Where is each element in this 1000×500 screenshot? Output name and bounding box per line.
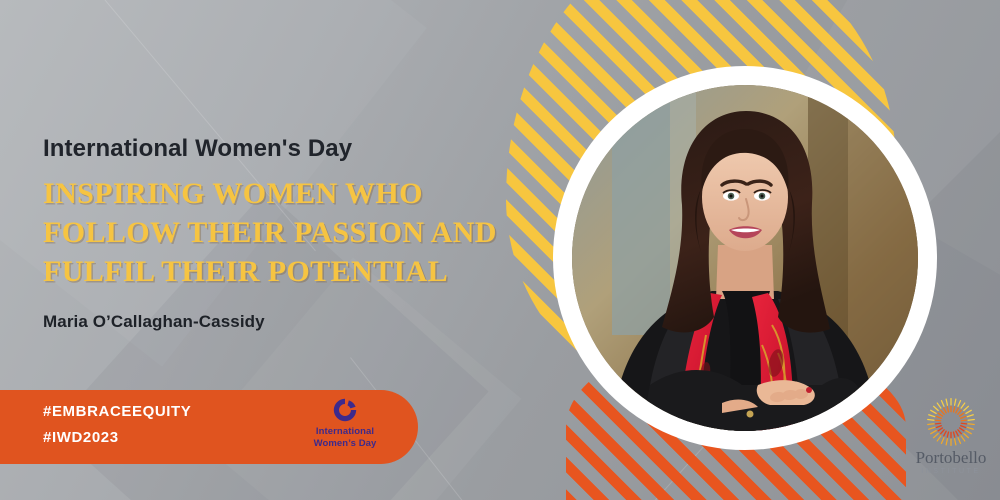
hashtag-iwd2023: #IWD2023 xyxy=(43,425,191,451)
iwd-promo-graphic: International Women's Day INSPIRING WOME… xyxy=(0,0,1000,500)
portobello-logo-name: Portobello xyxy=(905,449,997,467)
avatar xyxy=(572,85,918,431)
portobello-sunburst-icon xyxy=(925,396,977,448)
iwd-logo-line-1: International xyxy=(300,426,390,438)
headline-line-1: INSPIRING WOMEN WHO xyxy=(43,174,513,213)
headline-line-2: FOLLOW THEIR PASSION AND xyxy=(43,213,513,252)
portobello-logo-subtitle: INSTITUTE xyxy=(905,468,997,475)
page-title: International Women's Day xyxy=(43,135,352,163)
hashtag-list: #EMBRACEEQUITY #IWD2023 xyxy=(43,399,191,451)
hashtag-embraceequity: #EMBRACEEQUITY xyxy=(43,399,191,425)
iwd-logo: International Women’s Day xyxy=(300,396,390,462)
portobello-logo: Portobello INSTITUTE xyxy=(905,396,997,488)
iwd-circle-mark-icon xyxy=(331,396,359,424)
headline-line-3: FULFIL THEIR POTENTIAL xyxy=(43,252,513,291)
headline: INSPIRING WOMEN WHO FOLLOW THEIR PASSION… xyxy=(43,174,513,291)
portrait-ring xyxy=(553,66,937,450)
speaker-name: Maria O’Callaghan-Cassidy xyxy=(43,312,265,332)
iwd-logo-line-2: Women’s Day xyxy=(300,438,390,450)
iwd-logo-text: International Women’s Day xyxy=(300,426,390,449)
